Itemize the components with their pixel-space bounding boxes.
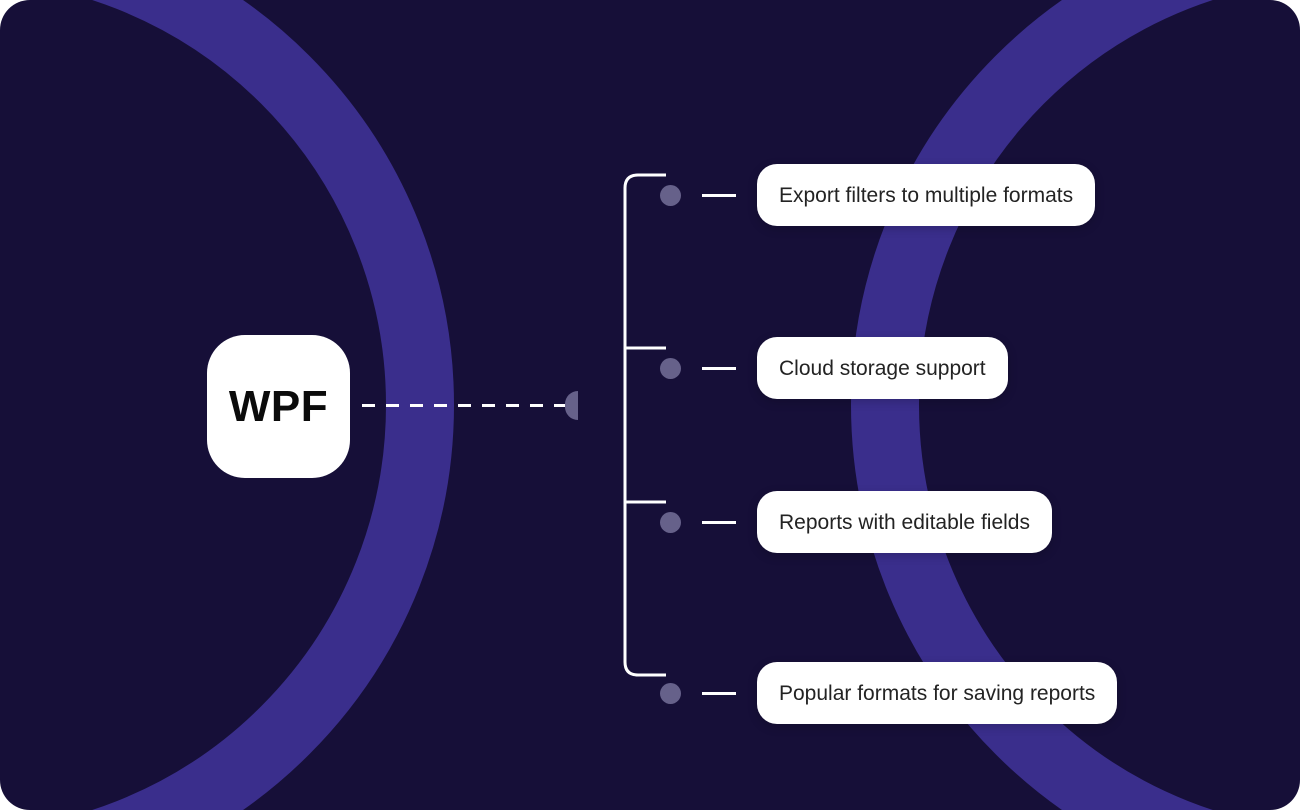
trunk-dashed-connector [362,404,567,407]
branch-pill-1[interactable]: Export filters to multiple formats [757,164,1095,226]
branch-bracket [618,160,748,690]
branch-dot-icon [660,683,681,704]
branch-connector-stub [702,194,736,197]
mindmap-canvas: WPF Export filters to multiple formats C… [0,0,1300,810]
branch-dot-icon [660,512,681,533]
branch-connector-stub [702,367,736,370]
root-node-label: WPF [229,385,328,429]
branch-row-4[interactable]: Popular formats for saving reports [660,662,1117,724]
branch-pill-label: Reports with editable fields [779,512,1030,533]
branch-connector-stub [702,521,736,524]
branch-row-1[interactable]: Export filters to multiple formats [660,164,1095,226]
root-node[interactable]: WPF [207,335,350,478]
branch-pill-2[interactable]: Cloud storage support [757,337,1008,399]
branch-pill-4[interactable]: Popular formats for saving reports [757,662,1117,724]
branch-dot-icon [660,185,681,206]
branch-pill-label: Popular formats for saving reports [779,683,1095,704]
branch-pill-3[interactable]: Reports with editable fields [757,491,1052,553]
trunk-endpoint-halfcircle-icon [565,391,578,420]
branch-row-3[interactable]: Reports with editable fields [660,491,1052,553]
branch-connector-stub [702,692,736,695]
branch-pill-label: Export filters to multiple formats [779,185,1073,206]
branch-row-2[interactable]: Cloud storage support [660,337,1008,399]
branch-dot-icon [660,358,681,379]
branch-pill-label: Cloud storage support [779,358,986,379]
